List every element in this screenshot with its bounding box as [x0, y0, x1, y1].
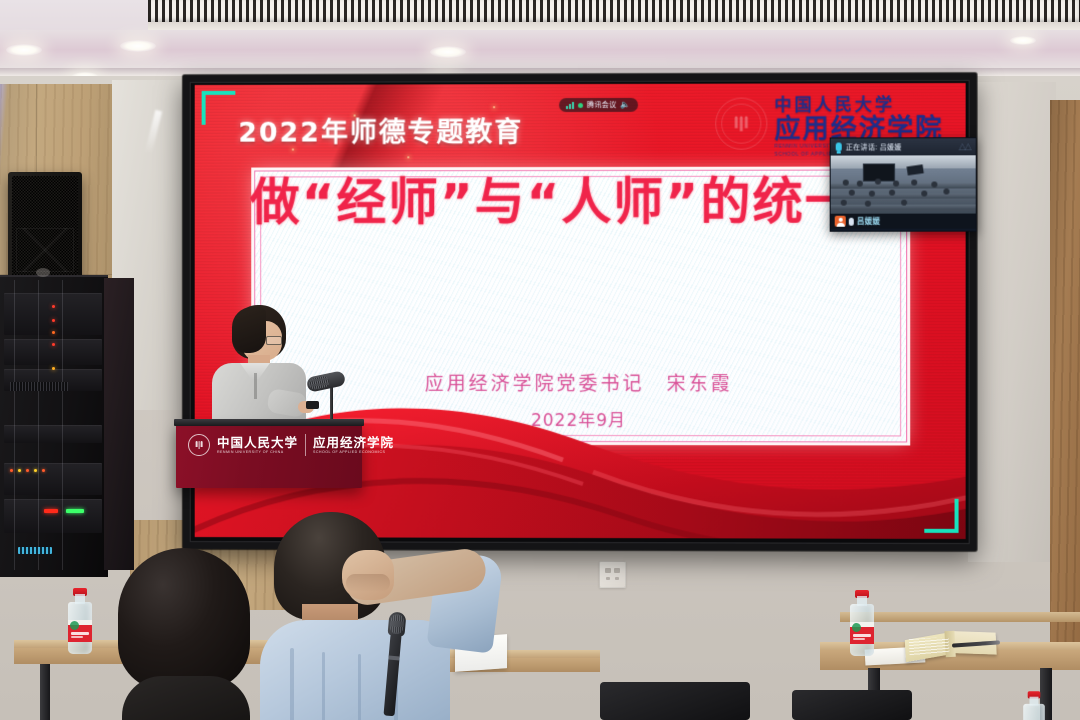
downlight-icon	[6, 44, 42, 56]
speaker-icon: 🔈	[621, 101, 631, 109]
slide-header-text: 2022年师德专题教育	[238, 110, 523, 149]
av-rack	[0, 275, 108, 577]
wood-panel-right	[1050, 100, 1080, 660]
downlight-icon	[1010, 36, 1036, 45]
meeting-status-pill[interactable]: 腾讯会议 🔈	[559, 98, 638, 112]
podium: 中国人民大学 RENMIN UNIVERSITY OF CHINA 应用经济学院…	[176, 424, 362, 488]
corner-marker-icon	[202, 91, 236, 125]
downlight-icon	[120, 40, 156, 52]
wall-socket-panel[interactable]	[599, 561, 626, 588]
av-rack-side-panel	[104, 278, 134, 570]
audience-member	[250, 512, 490, 720]
wall-speaker	[8, 172, 82, 290]
ac-grille-icon	[148, 0, 1080, 22]
podium-school-en: SCHOOL OF APPLIED ECONOMICS	[313, 450, 394, 454]
rack-vent	[10, 382, 68, 391]
lecture-hall-photo: 2022年师德专题教育 腾讯会议 🔈 中国人民大学 应用经济学院	[0, 0, 1080, 720]
water-bottle[interactable]	[1021, 691, 1046, 720]
pip-title-bar: 正在讲话: 吕媛媛 △△	[831, 138, 976, 155]
meeting-app-label: 腾讯会议	[587, 100, 617, 110]
ceiling-soffit	[0, 30, 1080, 70]
water-bottle[interactable]	[848, 590, 876, 656]
tencent-meeting-mark: △△	[959, 141, 971, 152]
podium-university-cn: 中国人民大学	[217, 436, 298, 450]
presenter-remote[interactable]	[306, 401, 319, 409]
podium-university-en: RENMIN UNIVERSITY OF CHINA	[217, 450, 298, 454]
person-avatar-icon	[835, 216, 846, 227]
wall-panel-right	[968, 82, 1056, 562]
bottle-label	[68, 620, 92, 642]
podium-sign: 中国人民大学 RENMIN UNIVERSITY OF CHINA 应用经济学院…	[188, 434, 352, 456]
desk-far	[840, 612, 1080, 622]
slide-header: 2022年师德专题教育	[238, 110, 523, 149]
connected-dot-icon	[578, 102, 583, 107]
speaker-logo-icon	[36, 268, 50, 277]
corner-marker-icon	[924, 499, 958, 533]
pip-speaking-label: 正在讲话: 吕媛媛	[846, 142, 902, 152]
rack-display-icon	[18, 547, 52, 554]
pip-participant-footer: 吕媛媛	[831, 214, 976, 229]
microphone-icon	[849, 217, 854, 225]
water-bottle[interactable]	[66, 588, 94, 654]
signal-bars-icon	[566, 101, 574, 109]
microphone-icon	[387, 611, 406, 636]
podium-divider	[305, 434, 306, 456]
ruc-seal-icon	[188, 434, 210, 456]
microphone-icon	[836, 142, 842, 151]
pip-participant-name: 吕媛媛	[857, 216, 881, 227]
logo-university-cn: 中国人民大学	[774, 97, 943, 115]
presenter-person	[210, 305, 306, 435]
bottle-label	[850, 622, 874, 644]
audience-member	[118, 548, 250, 720]
ruc-seal-icon	[715, 98, 767, 150]
video-pip-overlay[interactable]: 正在讲话: 吕媛媛 △△	[830, 137, 977, 232]
podium-school-cn: 应用经济学院	[313, 436, 394, 450]
eyeglasses-icon	[266, 336, 282, 345]
downlight-icon	[430, 46, 466, 58]
podium-surface	[174, 419, 364, 426]
pip-video-feed	[831, 155, 976, 213]
